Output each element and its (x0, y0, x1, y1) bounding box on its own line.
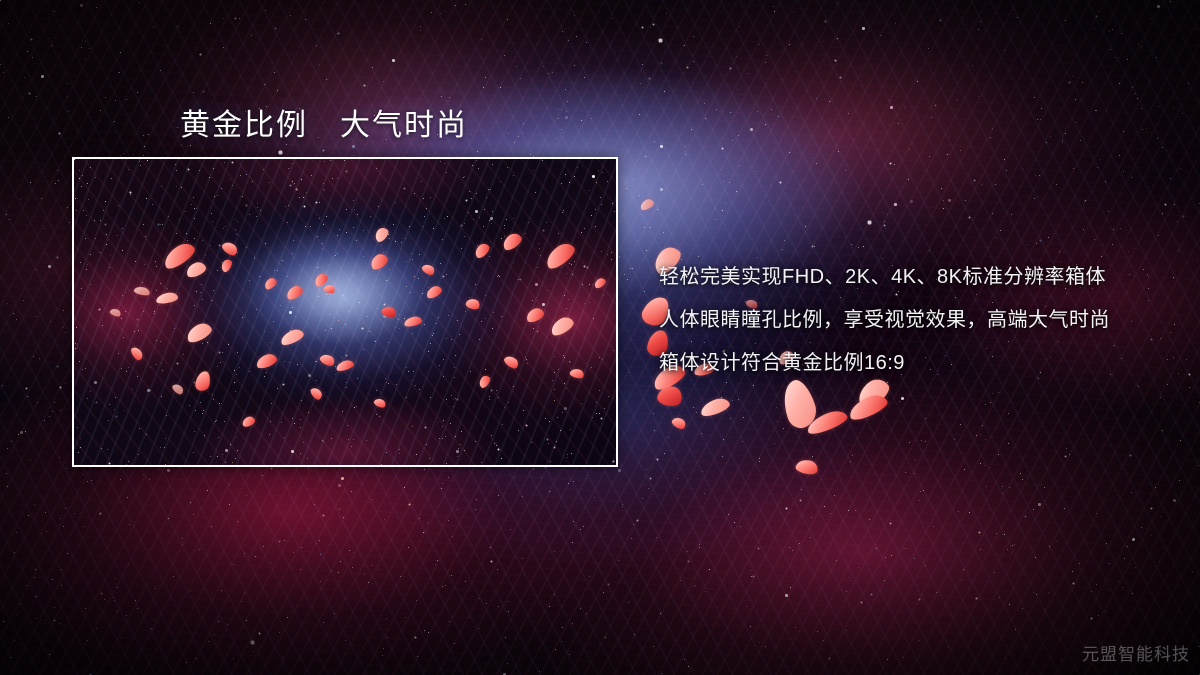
description-text-block: 轻松完美实现FHD、2K、4K、8K标准分辨率箱体 人体眼睛瞳孔比例，享受视觉效… (659, 256, 1179, 385)
description-line-2: 人体眼睛瞳孔比例，享受视觉效果，高端大气时尚 (659, 299, 1179, 342)
description-line-3: 箱体设计符合黄金比例16:9 (659, 342, 1179, 385)
watermark-logo-text: 元盟智能科技 (1082, 640, 1190, 665)
presentation-slide: 黄金比例 大气时尚 轻松完美实现FHD、2K、4K、8K标准分辨率箱体 人体眼睛… (0, 0, 1200, 675)
description-line-1: 轻松完美实现FHD、2K、4K、8K标准分辨率箱体 (659, 256, 1179, 299)
framed-image-panel[interactable] (72, 157, 618, 467)
slide-title: 黄金比例 大气时尚 (180, 100, 468, 144)
